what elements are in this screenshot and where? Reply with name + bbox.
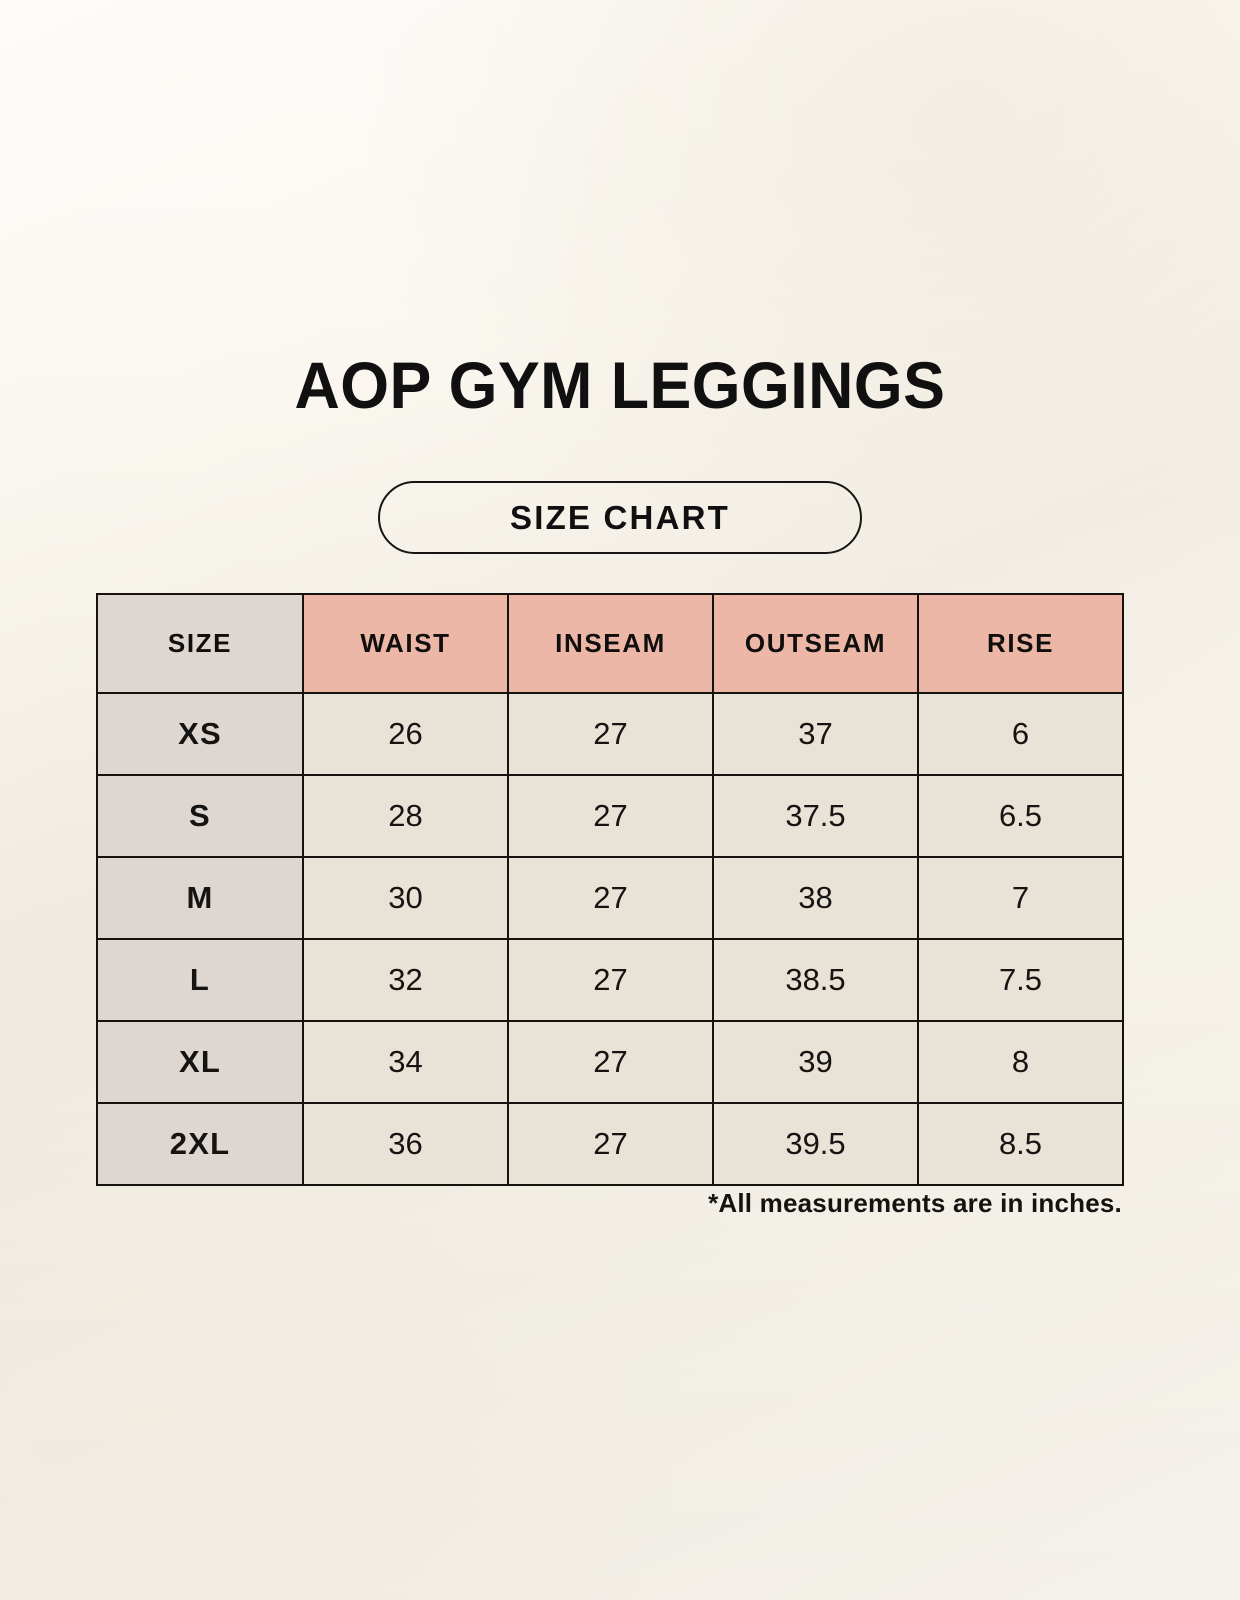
subtitle-pill-container: SIZE CHART (0, 481, 1240, 554)
measurements-footnote: *All measurements are in inches. (708, 1188, 1122, 1219)
cell-size: XL (97, 1021, 303, 1103)
column-header-size: SIZE (97, 594, 303, 693)
cell-inseam: 27 (508, 1021, 713, 1103)
column-header-rise: RISE (918, 594, 1123, 693)
column-header-waist: WAIST (303, 594, 508, 693)
table-header-row: SIZE WAIST INSEAM OUTSEAM RISE (97, 594, 1123, 693)
cell-waist: 36 (303, 1103, 508, 1185)
cell-waist: 26 (303, 693, 508, 775)
cell-outseam: 38 (713, 857, 918, 939)
table-row: 2XL 36 27 39.5 8.5 (97, 1103, 1123, 1185)
cell-rise: 8.5 (918, 1103, 1123, 1185)
cell-size: XS (97, 693, 303, 775)
table-row: XL 34 27 39 8 (97, 1021, 1123, 1103)
cell-waist: 30 (303, 857, 508, 939)
cell-outseam: 38.5 (713, 939, 918, 1021)
cell-outseam: 37.5 (713, 775, 918, 857)
table-row: M 30 27 38 7 (97, 857, 1123, 939)
cell-waist: 34 (303, 1021, 508, 1103)
size-chart-table: SIZE WAIST INSEAM OUTSEAM RISE XS 26 27 … (96, 593, 1124, 1186)
cell-waist: 28 (303, 775, 508, 857)
table-row: L 32 27 38.5 7.5 (97, 939, 1123, 1021)
size-chart-page: AOP GYM LEGGINGS SIZE CHART SIZE WAIST I… (0, 0, 1240, 1600)
cell-outseam: 39.5 (713, 1103, 918, 1185)
column-header-outseam: OUTSEAM (713, 594, 918, 693)
cell-rise: 6 (918, 693, 1123, 775)
page-title: AOP GYM LEGGINGS (31, 352, 1209, 418)
cell-inseam: 27 (508, 1103, 713, 1185)
column-header-inseam: INSEAM (508, 594, 713, 693)
cell-size: 2XL (97, 1103, 303, 1185)
size-chart-pill: SIZE CHART (378, 481, 862, 554)
cell-rise: 7 (918, 857, 1123, 939)
cell-inseam: 27 (508, 693, 713, 775)
cell-inseam: 27 (508, 939, 713, 1021)
cell-inseam: 27 (508, 775, 713, 857)
cell-waist: 32 (303, 939, 508, 1021)
table-body: XS 26 27 37 6 S 28 27 37.5 6.5 M 30 27 (97, 693, 1123, 1185)
cell-inseam: 27 (508, 857, 713, 939)
cell-rise: 6.5 (918, 775, 1123, 857)
cell-size: L (97, 939, 303, 1021)
cell-size: M (97, 857, 303, 939)
cell-size: S (97, 775, 303, 857)
cell-outseam: 37 (713, 693, 918, 775)
cell-rise: 7.5 (918, 939, 1123, 1021)
cell-rise: 8 (918, 1021, 1123, 1103)
size-chart-table-container: SIZE WAIST INSEAM OUTSEAM RISE XS 26 27 … (96, 593, 1124, 1186)
table-row: XS 26 27 37 6 (97, 693, 1123, 775)
table-header: SIZE WAIST INSEAM OUTSEAM RISE (97, 594, 1123, 693)
table-row: S 28 27 37.5 6.5 (97, 775, 1123, 857)
cell-outseam: 39 (713, 1021, 918, 1103)
